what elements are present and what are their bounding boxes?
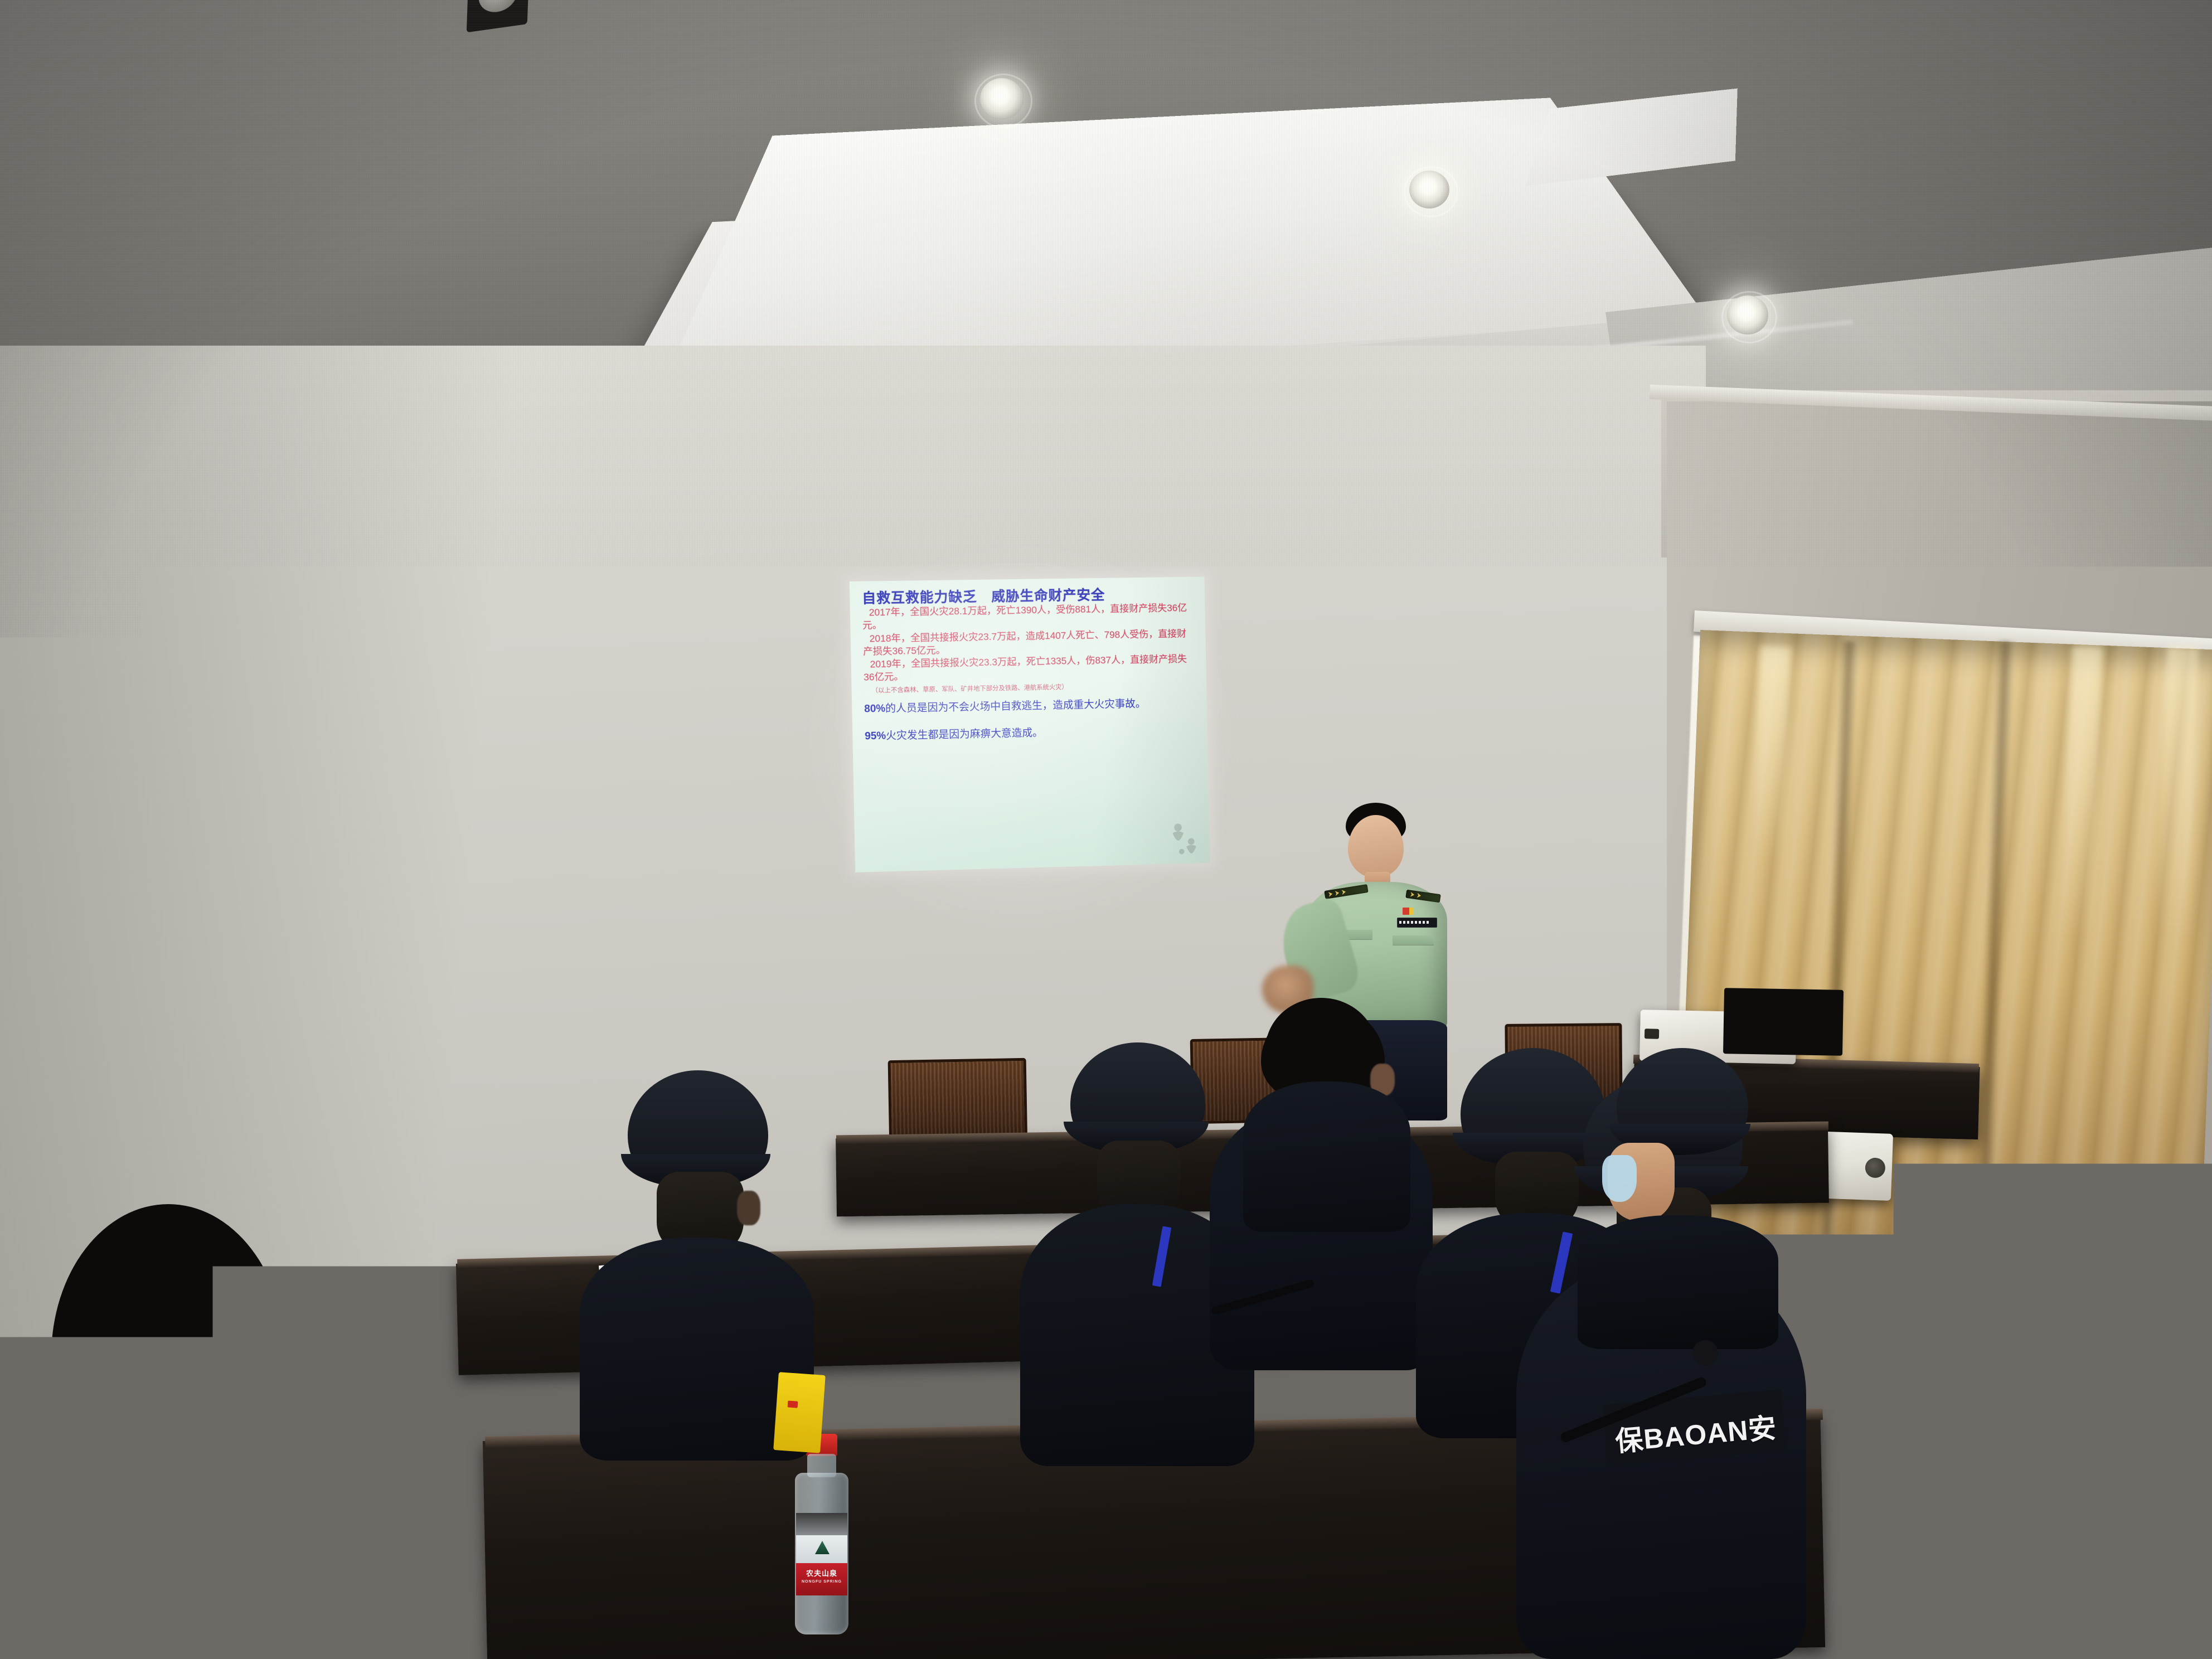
slide-watermark-logo	[1167, 819, 1202, 859]
armband-emblem-icon-right	[2028, 1272, 2053, 1288]
bottle-brand-cn: 农夫山泉	[796, 1568, 847, 1578]
presenter-pocket-right	[1393, 935, 1434, 945]
back-chair-dark	[1723, 988, 1844, 1056]
bottle-label-lower: 农夫山泉 NONGFU SPRING	[796, 1563, 847, 1595]
attendee-masked-guard-armband	[2012, 1245, 2107, 1323]
attendee-row1-left-ear	[737, 1191, 760, 1225]
attendee-masked-guard-mask-strap	[2085, 1107, 2138, 1148]
attendee-masked-midright	[1578, 1048, 1778, 1349]
downlight-1-ring	[974, 74, 1032, 128]
emphasis-80-percent: 80%	[864, 702, 885, 715]
attendee-foreground	[11, 1204, 368, 1659]
emphasis-95-percent: 95%	[865, 730, 886, 743]
emphasis-95-text: 火灾发生都是因为麻痹大意造成。	[886, 727, 1043, 742]
slide-footnote: （以上不含森林、草原、军队、矿井地下部分及铁路、港航系统火灾）	[871, 681, 1195, 695]
attendee-row1-left	[580, 1070, 814, 1461]
slide-emphasis-95: 95%火灾发生都是因为麻痹大意造成。	[865, 723, 1197, 743]
downlight-2-ring	[1404, 166, 1458, 217]
armband-emblem-icon	[788, 1401, 798, 1408]
attendee-baoan-center-back-text: 保BAOAN安	[1613, 1405, 1778, 1459]
attendee-row1-left-armband	[773, 1372, 826, 1453]
emphasis-80-text: 的人员是因为不会火场中自救逃生，造成重大火灾事故。	[885, 698, 1146, 715]
training-room-photo: 自救互救能力缺乏威胁生命财产安全 2017年，全国火灾28.1万起，死亡1390…	[0, 0, 2212, 1659]
slide-title-left: 自救互救能力缺乏	[862, 589, 977, 607]
attendee-masked-midright-torso	[1578, 1215, 1778, 1349]
bottle-brand-en: NONGFU SPRING	[796, 1580, 847, 1584]
presenter-head	[1348, 815, 1404, 877]
desk-microphone-head-icon	[1692, 1340, 1718, 1366]
bottle-label-upper	[796, 1513, 847, 1536]
slide-emphasis-80: 80%的人员是因为不会火场中自救逃生，造成重大火灾事故。	[864, 696, 1196, 715]
case-latch-left	[1645, 1029, 1659, 1039]
attendee-foreground-mask-strap	[233, 1371, 274, 1446]
slide-statistics: 2017年，全国火灾28.1万起，死亡1390人，受伤881人，直接财产损失36…	[862, 601, 1197, 743]
slide-title-right: 威胁生命财产安全	[991, 588, 1105, 605]
presenter-flag-pin	[1403, 908, 1414, 915]
attendee-foreground-shirt	[32, 1443, 345, 1659]
water-bottle[interactable]: 农夫山泉 NONGFU SPRING	[788, 1434, 855, 1634]
stat-line-2019: 2019年，全国共接报火灾23.3万起，死亡1335人，伤837人，直接财产损失…	[863, 653, 1195, 684]
attendee-row3-back-hair	[1265, 998, 1377, 1087]
attendee-masked-guard-right	[1996, 992, 2212, 1449]
presenter-name-badge	[1397, 918, 1437, 928]
attendee-masked-midright-mask[interactable]	[1602, 1155, 1637, 1202]
projected-slide: 自救互救能力缺乏威胁生命财产安全 2017年，全国火灾28.1万起，死亡1390…	[850, 576, 1210, 872]
attendee-row3-back	[1243, 998, 1410, 1232]
attendee-row3-back-torso	[1243, 1081, 1410, 1232]
downlight-3-ring	[1721, 291, 1777, 343]
stat-line-2017: 2017年，全国火灾28.1万起，死亡1390人，受伤881人，直接财产损失36…	[862, 601, 1195, 632]
